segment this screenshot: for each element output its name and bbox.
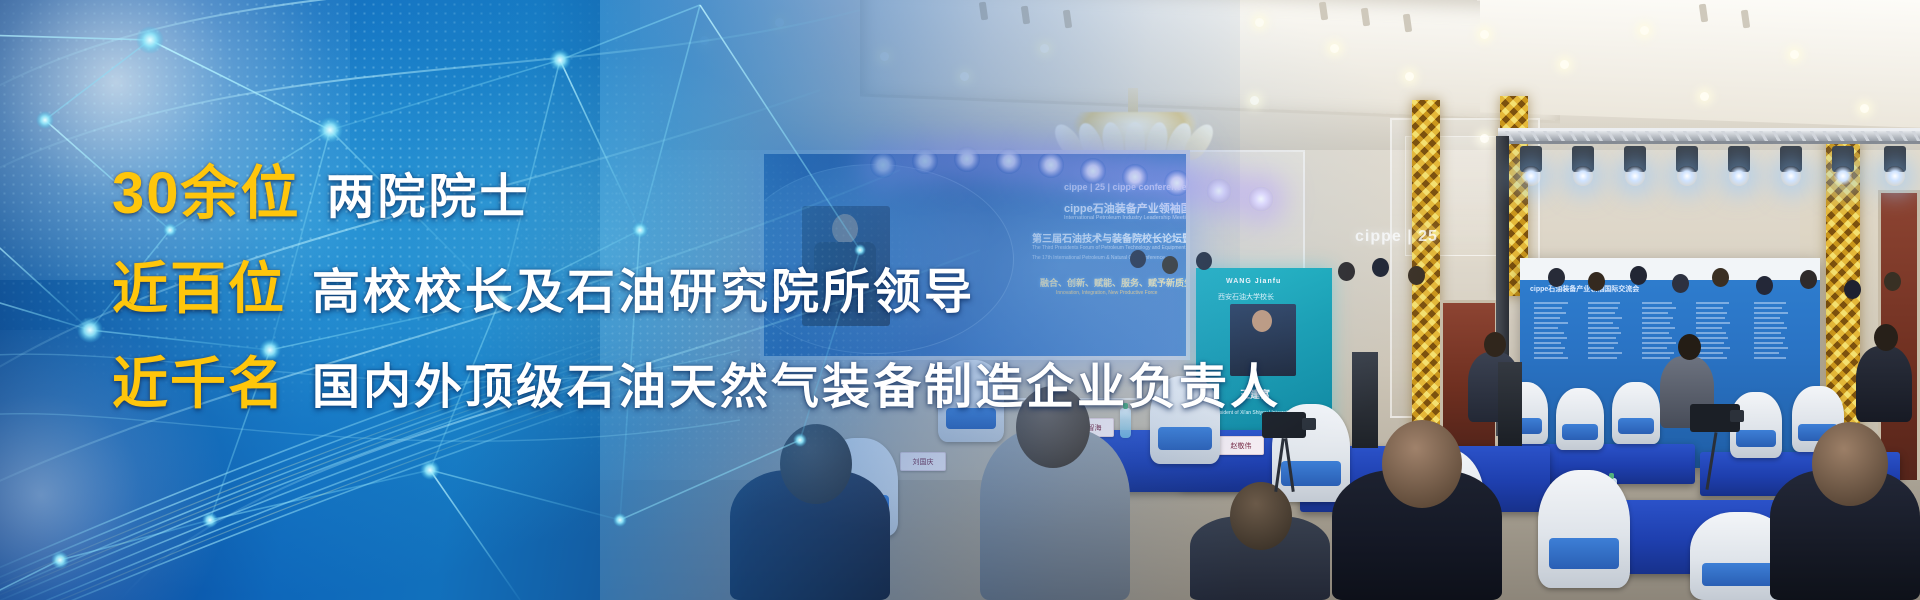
ceiling-downlight: [1700, 92, 1709, 101]
ceiling-downlight: [1330, 44, 1339, 53]
moving-head-light: [1572, 146, 1594, 172]
audience-head: [1874, 324, 1898, 351]
headline-line-3: 近千名 国内外顶级石油天然气装备制造企业负责人: [112, 339, 1432, 420]
headline-count-1: 30余位: [112, 146, 301, 230]
moving-head-light: [1676, 146, 1698, 172]
ceiling-downlight: [1250, 96, 1259, 105]
audience-head: [1382, 420, 1462, 508]
audience-head: [1756, 276, 1773, 295]
audience-chair: [1538, 470, 1630, 588]
audience-head: [1678, 334, 1701, 360]
moving-head-light: [1728, 146, 1750, 172]
ceiling-downlight: [1640, 26, 1649, 35]
headline-line-1: 30余位 两院院士: [112, 146, 1432, 230]
headline-count-3: 近千名: [112, 339, 286, 420]
audience-person: [1856, 346, 1912, 422]
headline-description-2: 高校校长及石油研究院所领导: [312, 252, 975, 322]
sponsor-board-title: cippe石油装备产业领袖国际交流会: [1530, 284, 1639, 294]
video-camera: [1690, 404, 1740, 432]
audience-head: [1672, 274, 1689, 293]
moving-head-light: [1624, 146, 1646, 172]
audience-head: [1548, 268, 1565, 287]
audience-head: [1484, 332, 1506, 357]
audience-chair: [1556, 388, 1604, 450]
ceiling-downlight: [1405, 72, 1414, 81]
audience-head: [1712, 268, 1729, 287]
headline-description-3: 国内外顶级石油天然气装备制造企业负责人: [312, 347, 1281, 417]
audience-head: [1588, 272, 1605, 291]
audience-head: [1630, 266, 1647, 285]
moving-head-light: [1780, 146, 1802, 172]
audience-head: [1844, 280, 1861, 299]
headline-copy: 30余位 两院院士 近百位 高校校长及石油研究院所领导 近千名 国内外顶级石油天…: [112, 146, 1432, 420]
audience-head: [1812, 422, 1888, 506]
headline-line-2: 近百位 高校校长及石油研究院所领导: [112, 244, 1432, 325]
ceiling-downlight: [1560, 60, 1569, 69]
headline-count-2: 近百位: [112, 244, 286, 325]
sponsor-board-top-edge: [1520, 258, 1820, 280]
audience-chair: [1612, 382, 1660, 444]
audience-head: [1884, 272, 1901, 291]
headline-description-1: 两院院士: [327, 157, 531, 227]
audience-head: [1800, 270, 1817, 289]
moving-head-light: [1832, 146, 1854, 172]
moving-head-light: [1884, 146, 1906, 172]
ceiling-downlight: [1255, 18, 1264, 27]
ceiling-downlight: [1860, 104, 1869, 113]
ceiling-downlight: [1790, 50, 1799, 59]
banner-root: cippe | 25 cippe | 25 | cippe conference…: [0, 0, 1920, 600]
ceiling-downlight: [1480, 30, 1489, 39]
pa-speaker-stack: [1498, 362, 1522, 446]
moving-head-light: [1520, 146, 1542, 172]
lighting-truss: [1498, 128, 1920, 144]
